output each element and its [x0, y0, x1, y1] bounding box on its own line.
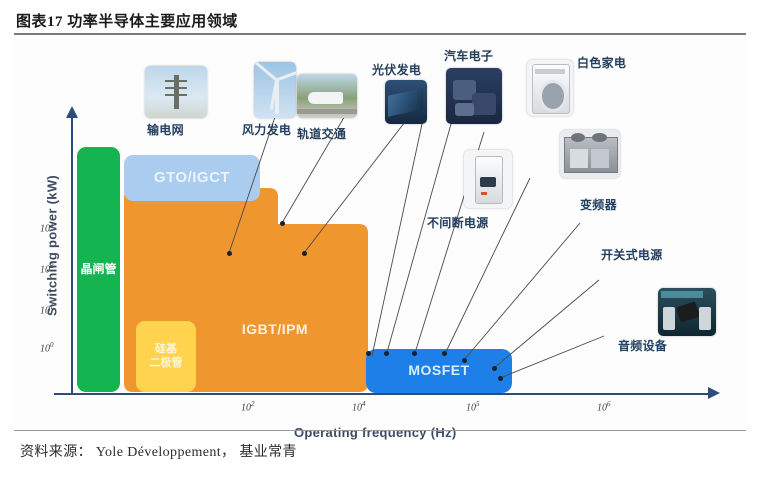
region-igbt-ipm-label: IGBT/IPM	[210, 321, 340, 337]
callout-vfd: 变频器	[580, 196, 617, 213]
leader-dot	[384, 351, 389, 356]
leader-dot	[280, 221, 285, 226]
leader-dot	[302, 251, 307, 256]
region-thyristor-label: 晶闸管	[80, 262, 116, 277]
region-mosfet-label: MOSFET	[408, 362, 469, 380]
region-gto-igct-label: GTO/IGCT	[154, 169, 230, 188]
automotive-electronics-photo	[446, 68, 502, 124]
callout-power-grid: 输电网	[147, 121, 184, 138]
solar-panel-photo	[385, 80, 427, 124]
leader-dot	[462, 358, 467, 363]
frequency-converter-photo	[560, 130, 620, 178]
callout-audio: 音频设备	[618, 337, 667, 354]
leader-dot	[227, 251, 232, 256]
leader-dot	[366, 351, 371, 356]
high-speed-train-photo	[297, 74, 357, 118]
callout-rail-transit: 轨道交通	[297, 125, 346, 142]
chart-canvas: Switching power (kW) Operating frequency…	[14, 38, 746, 426]
callout-white-goods: 白色家电	[577, 54, 626, 71]
region-silicon-diode-label-line2: 二极管	[150, 357, 183, 369]
callout-ups: 不间断电源	[427, 214, 489, 231]
page-title: 图表17 功率半导体主要应用领域	[16, 10, 744, 31]
ups-photo	[464, 150, 512, 208]
leader-dot	[498, 376, 503, 381]
x-axis-title: Operating frequency (Hz)	[294, 425, 457, 440]
region-mosfet[interactable]: MOSFET	[366, 349, 512, 393]
callout-smps: 开关式电源	[601, 246, 663, 263]
leader-dot	[492, 366, 497, 371]
leader-dot	[412, 351, 417, 356]
callout-pv-power: 光伏发电	[372, 61, 421, 78]
callout-wind-power: 风力发电	[242, 121, 291, 138]
footer-divider	[14, 430, 746, 431]
callout-automotive: 汽车电子	[444, 47, 493, 64]
source-note: 资料来源： Yole Développement， 基业常青	[20, 441, 297, 461]
title-divider	[14, 33, 746, 35]
region-silicon-diode[interactable]: 硅基 二极管	[136, 321, 196, 392]
audio-equipment-photo	[658, 288, 716, 336]
region-gto-igct[interactable]: GTO/IGCT	[124, 155, 260, 201]
region-silicon-diode-label-line1: 硅基	[155, 343, 177, 355]
washing-machine-photo	[527, 60, 573, 116]
region-thyristor[interactable]: 晶闸管	[77, 147, 120, 392]
wind-turbine-photo	[254, 62, 296, 118]
leader-dot	[442, 351, 447, 356]
power-transmission-grid-photo	[145, 66, 207, 118]
